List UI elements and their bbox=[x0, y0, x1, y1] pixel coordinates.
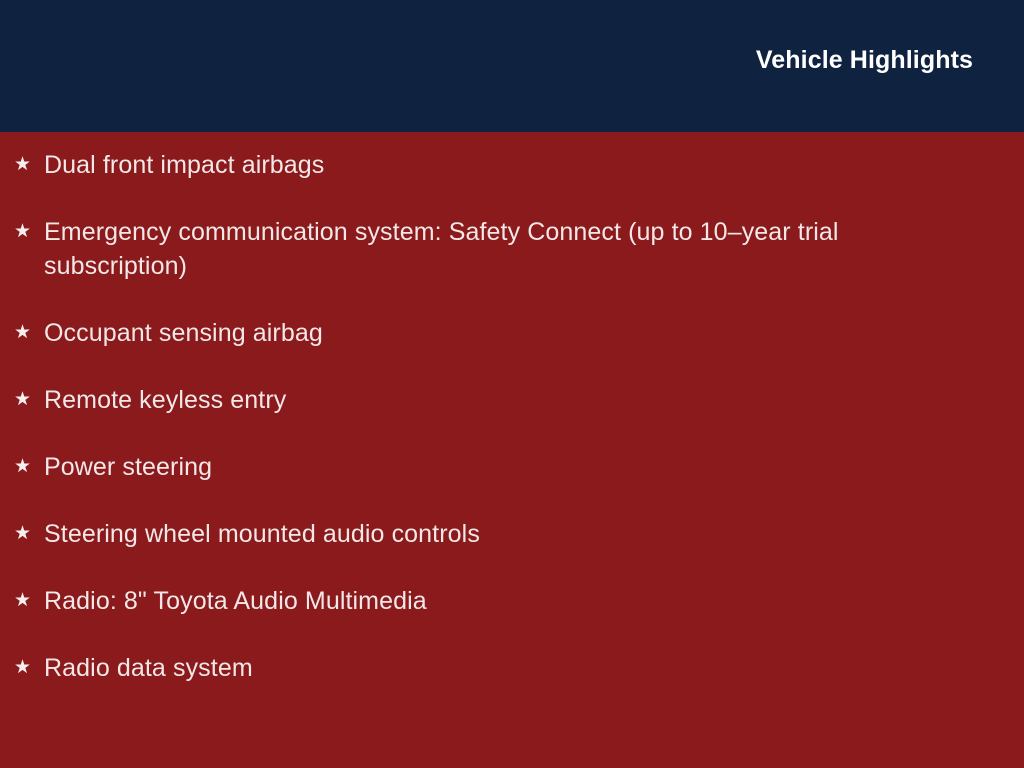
list-item-label: Power steering bbox=[44, 450, 946, 484]
star-icon: ★ bbox=[14, 383, 44, 417]
list-item: ★ Power steering bbox=[0, 450, 1024, 484]
star-icon: ★ bbox=[14, 316, 44, 350]
slide-content-area: ★ Dual front impact airbags ★ Emergency … bbox=[0, 132, 1024, 768]
star-icon: ★ bbox=[14, 450, 44, 484]
slide-vehicle-highlights: Vehicle Highlights ★ Dual front impact a… bbox=[0, 0, 1024, 768]
list-item: ★ Radio: 8" Toyota Audio Multimedia bbox=[0, 584, 1024, 618]
list-item-label: Steering wheel mounted audio controls bbox=[44, 517, 946, 551]
list-item: ★ Dual front impact airbags bbox=[0, 148, 1024, 182]
star-icon: ★ bbox=[14, 517, 44, 551]
list-item-label: Radio: 8" Toyota Audio Multimedia bbox=[44, 584, 946, 618]
list-item: ★ Steering wheel mounted audio controls bbox=[0, 517, 1024, 551]
star-icon: ★ bbox=[14, 651, 44, 685]
vehicle-highlights-list: ★ Dual front impact airbags ★ Emergency … bbox=[0, 148, 1024, 685]
list-item: ★ Radio data system bbox=[0, 651, 1024, 685]
star-icon: ★ bbox=[14, 215, 44, 249]
list-item-label: Remote keyless entry bbox=[44, 383, 946, 417]
list-item-label: Radio data system bbox=[44, 651, 946, 685]
list-item: ★ Remote keyless entry bbox=[0, 383, 1024, 417]
list-item-label: Dual front impact airbags bbox=[44, 148, 946, 182]
slide-header-band: Vehicle Highlights bbox=[0, 0, 1024, 132]
star-icon: ★ bbox=[14, 584, 44, 618]
list-item: ★ Occupant sensing airbag bbox=[0, 316, 1024, 350]
list-item-label: Occupant sensing airbag bbox=[44, 316, 946, 350]
star-icon: ★ bbox=[14, 148, 44, 182]
list-item-label: Emergency communication system: Safety C… bbox=[44, 215, 946, 283]
list-item: ★ Emergency communication system: Safety… bbox=[0, 215, 1024, 283]
page-title: Vehicle Highlights bbox=[756, 48, 973, 73]
